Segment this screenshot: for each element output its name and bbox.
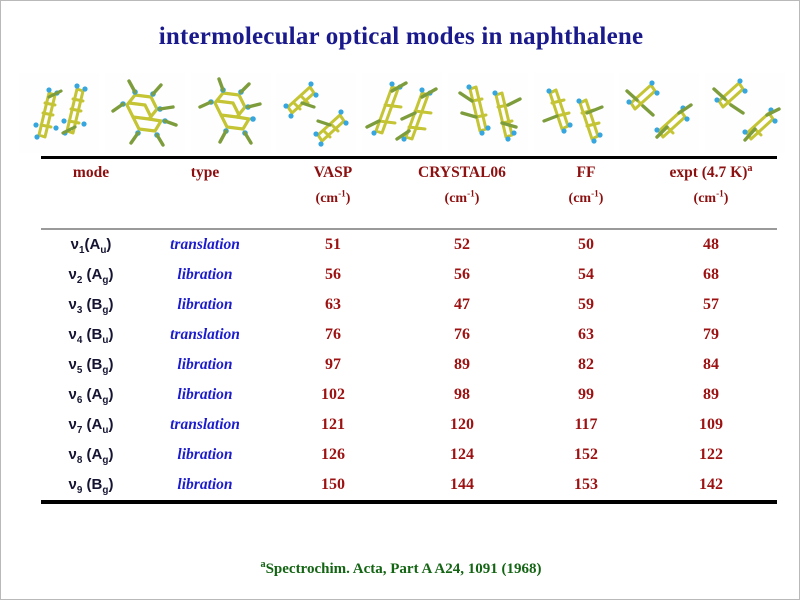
cell-crystal06: 52 (397, 230, 527, 260)
column-header-crystal06: CRYSTAL06 (cm-1) (397, 159, 527, 212)
cell-vasp: 63 (269, 290, 397, 320)
column-header-crystal06-unit: (cm-1) (397, 186, 527, 212)
cell-type: libration (141, 440, 269, 470)
cell-vasp: 150 (269, 470, 397, 500)
cell-type: libration (141, 290, 269, 320)
cell-ff: 50 (527, 230, 645, 260)
cell-crystal06: 89 (397, 350, 527, 380)
column-header-mode-label: mode (73, 164, 109, 181)
cell-expt: 79 (645, 320, 777, 350)
cell-mode: ν7 (Au) (41, 410, 141, 440)
cell-mode: ν5 (Bg) (41, 350, 141, 380)
cell-type: translation (141, 320, 269, 350)
cell-expt: 48 (645, 230, 777, 260)
column-header-expt-label: expt (4.7 K) (669, 164, 747, 181)
cell-vasp: 102 (269, 380, 397, 410)
cell-type: translation (141, 410, 269, 440)
mode-figure-nu7 (534, 73, 614, 153)
mode-figure-nu9 (705, 73, 785, 153)
cell-ff: 63 (527, 320, 645, 350)
modes-table: mode type VASP (cm-1) CRYSTAL06 (cm-1) F (41, 156, 777, 504)
cell-mode: ν3 (Bg) (41, 290, 141, 320)
table-row: ν9 (Bg)libration150144153142 (41, 470, 777, 500)
column-header-ff: FF (cm-1) (527, 159, 645, 212)
table-row: ν8 (Ag)libration126124152122 (41, 440, 777, 470)
modes-table-body: ν1(Au)translation51525048ν2 (Ag)libratio… (41, 230, 777, 500)
column-header-vasp-unit: (cm-1) (269, 186, 397, 212)
cell-expt: 68 (645, 260, 777, 290)
table-row: ν4 (Bu)translation76766379 (41, 320, 777, 350)
cell-expt: 89 (645, 380, 777, 410)
cell-ff: 153 (527, 470, 645, 500)
table-row: ν2 (Ag)libration56565468 (41, 260, 777, 290)
column-header-ff-unit: (cm-1) (527, 186, 645, 212)
column-header-expt: expt (4.7 K)a (cm-1) (645, 159, 777, 212)
cell-expt: 57 (645, 290, 777, 320)
column-header-type-label: type (191, 164, 219, 181)
table-row: ν7 (Au)translation121120117109 (41, 410, 777, 440)
table-row: ν6 (Ag)libration102989989 (41, 380, 777, 410)
cell-type: libration (141, 260, 269, 290)
cell-crystal06: 47 (397, 290, 527, 320)
table-row: ν5 (Bg)libration97898284 (41, 350, 777, 380)
cell-vasp: 121 (269, 410, 397, 440)
table-row: ν1(Au)translation51525048 (41, 230, 777, 260)
cell-mode: ν2 (Ag) (41, 260, 141, 290)
cell-crystal06: 120 (397, 410, 527, 440)
column-header-ff-label: FF (577, 164, 596, 181)
cell-type: translation (141, 230, 269, 260)
cell-expt: 142 (645, 470, 777, 500)
cell-ff: 152 (527, 440, 645, 470)
table-header-row: mode type VASP (cm-1) CRYSTAL06 (cm-1) F (41, 159, 777, 212)
cell-vasp: 126 (269, 440, 397, 470)
column-header-vasp: VASP (cm-1) (269, 159, 397, 212)
cell-vasp: 97 (269, 350, 397, 380)
column-header-expt-unit: (cm-1) (645, 186, 777, 212)
modes-table-grid: mode type VASP (cm-1) CRYSTAL06 (cm-1) F (41, 159, 777, 212)
cell-mode: ν4 (Bu) (41, 320, 141, 350)
cell-ff: 54 (527, 260, 645, 290)
mode-figure-nu3 (191, 73, 271, 153)
mode-figure-nu6 (448, 73, 528, 153)
cell-type: libration (141, 380, 269, 410)
cell-mode: ν6 (Ag) (41, 380, 141, 410)
footnote: aSpectrochim. Acta, Part A A24, 1091 (19… (1, 559, 800, 578)
column-header-mode: mode (41, 159, 141, 212)
cell-crystal06: 144 (397, 470, 527, 500)
cell-ff: 59 (527, 290, 645, 320)
mode-figure-nu2 (105, 73, 185, 153)
cell-crystal06: 56 (397, 260, 527, 290)
mode-figure-nu5 (362, 73, 442, 153)
mode-figure-strip (19, 73, 785, 153)
cell-crystal06: 98 (397, 380, 527, 410)
cell-crystal06: 76 (397, 320, 527, 350)
page-title: intermolecular optical modes in naphthal… (1, 23, 800, 51)
cell-mode: ν1(Au) (41, 230, 141, 260)
column-header-expt-footnote-marker: a (747, 163, 752, 174)
cell-vasp: 56 (269, 260, 397, 290)
footnote-text: Spectrochim. Acta, Part A A24, 1091 (196… (266, 561, 542, 577)
cell-vasp: 51 (269, 230, 397, 260)
cell-expt: 84 (645, 350, 777, 380)
cell-expt: 109 (645, 410, 777, 440)
cell-mode: ν9 (Bg) (41, 470, 141, 500)
column-header-vasp-label: VASP (314, 164, 352, 181)
mode-figure-nu4 (276, 73, 356, 153)
cell-type: libration (141, 350, 269, 380)
table-bottom-rule (41, 500, 777, 504)
column-header-type: type (141, 159, 269, 212)
mode-figure-nu8 (619, 73, 699, 153)
cell-ff: 117 (527, 410, 645, 440)
cell-type: libration (141, 470, 269, 500)
table-row: ν3 (Bg)libration63475957 (41, 290, 777, 320)
slide-canvas: intermolecular optical modes in naphthal… (0, 0, 800, 600)
cell-crystal06: 124 (397, 440, 527, 470)
header-spacer (41, 212, 777, 228)
cell-mode: ν8 (Ag) (41, 440, 141, 470)
cell-ff: 99 (527, 380, 645, 410)
cell-vasp: 76 (269, 320, 397, 350)
cell-expt: 122 (645, 440, 777, 470)
cell-ff: 82 (527, 350, 645, 380)
mode-figure-nu1 (19, 73, 99, 153)
column-header-crystal06-label: CRYSTAL06 (418, 164, 506, 181)
